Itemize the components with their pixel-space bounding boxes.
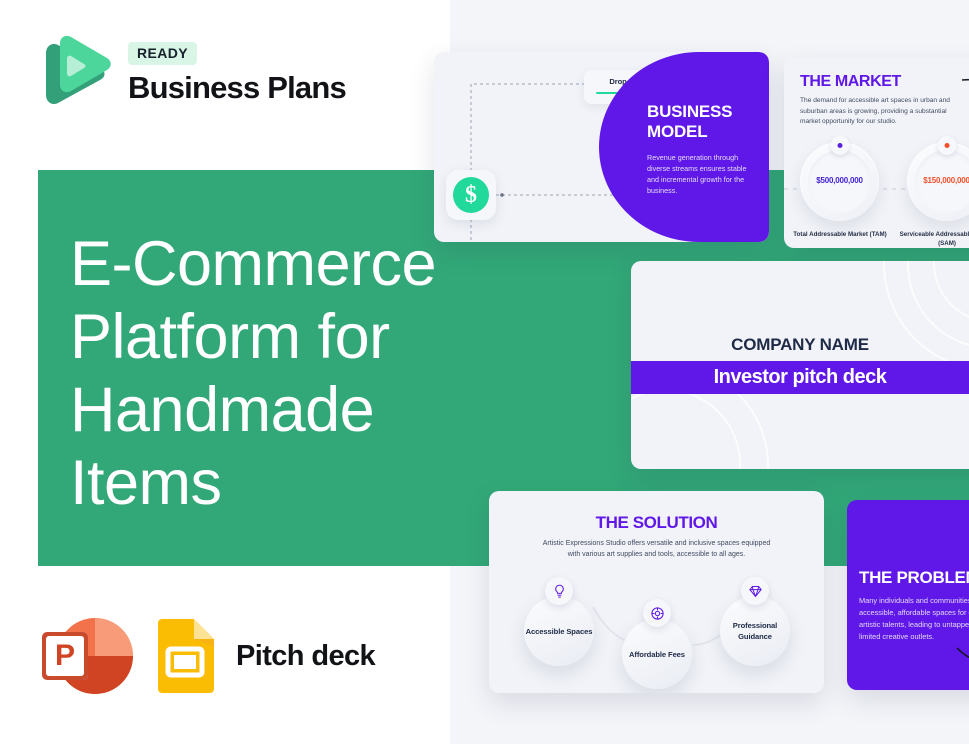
page-title: E-Commerce Platform for Handmade Items — [70, 228, 470, 520]
cover-subtitle: Investor pitch deck — [631, 366, 969, 389]
market-metric-dot-cap — [937, 136, 956, 155]
solution-body: Artistic Expressions Studio offers versa… — [539, 538, 774, 560]
market-metric-circle: $500,000,000 — [800, 142, 879, 221]
cover-company-name: COMPANY NAME — [631, 335, 969, 355]
brand-text-block: READY Business Plans — [128, 42, 346, 106]
screenshot-root: E-Commerce Platform for Handmade Items R… — [0, 0, 969, 744]
business-model-center-node: $ — [446, 170, 496, 220]
slide-the-problem[interactable]: THE PROBLEM Many individuals and communi… — [847, 500, 969, 690]
format-label: Pitch deck — [236, 640, 375, 673]
problem-body: Many individuals and communities lack ac… — [859, 595, 969, 643]
solution-item-circle[interactable]: Accessible Spaces — [524, 596, 594, 666]
market-metric-caption: Total Addressable Market (TAM) — [790, 230, 890, 239]
market-body: The demand for accessible art spaces in … — [800, 96, 952, 128]
slide-the-market[interactable]: THE MARKET The demand for accessible art… — [784, 58, 969, 248]
diamond-icon — [741, 577, 769, 605]
svg-text:P: P — [55, 639, 75, 672]
dollar-sign-icon: $ — [453, 177, 489, 213]
powerpoint-icon: P — [40, 614, 136, 698]
lightbulb-icon — [545, 577, 573, 605]
market-dot-icon — [944, 143, 949, 148]
solution-item-circle[interactable]: Professional Guidance — [720, 596, 790, 666]
market-metric-caption: Serviceable Addressable Market (SAM) — [897, 230, 969, 248]
format-row: P Pitch deck — [40, 614, 375, 698]
solution-item-circle[interactable]: Affordable Fees — [622, 619, 692, 689]
market-dot-icon — [837, 143, 842, 148]
curved-arrow-icon — [960, 74, 969, 118]
market-metric-value: $500,000,000 — [800, 176, 879, 185]
slide-the-solution[interactable]: THE SOLUTION Artistic Expressions Studio… — [489, 491, 824, 693]
target-icon — [643, 599, 671, 627]
market-metric-value: $150,000,000 — [907, 176, 969, 185]
market-metric-dot-cap — [830, 136, 849, 155]
slide-business-model[interactable]: $ Drop-in Fees Session Workshops Commiss… — [434, 52, 769, 242]
google-slides-icon — [154, 619, 216, 693]
brand-logo: READY Business Plans — [40, 35, 346, 113]
solution-item-label: Professional Guidance — [720, 620, 790, 642]
market-title: THE MARKET — [800, 73, 901, 91]
ready-badge: READY — [128, 42, 197, 65]
business-model-body: Revenue generation through diverse strea… — [647, 152, 759, 196]
brand-name: Business Plans — [128, 70, 346, 106]
solution-item-label: Accessible Spaces — [526, 626, 593, 637]
problem-title: THE PROBLEM — [859, 568, 969, 588]
cover-band: Investor pitch deck — [631, 361, 969, 394]
play-triangle-logo-icon — [40, 35, 112, 113]
solution-item-label: Affordable Fees — [629, 649, 685, 660]
slide-cover[interactable]: COMPANY NAME Investor pitch deck — [631, 261, 969, 469]
market-metric-circle: $150,000,000 — [907, 142, 969, 221]
solution-title: THE SOLUTION — [489, 513, 824, 533]
business-model-title: BUSINESS MODEL — [647, 102, 762, 142]
problem-arrow-icon — [955, 646, 969, 686]
